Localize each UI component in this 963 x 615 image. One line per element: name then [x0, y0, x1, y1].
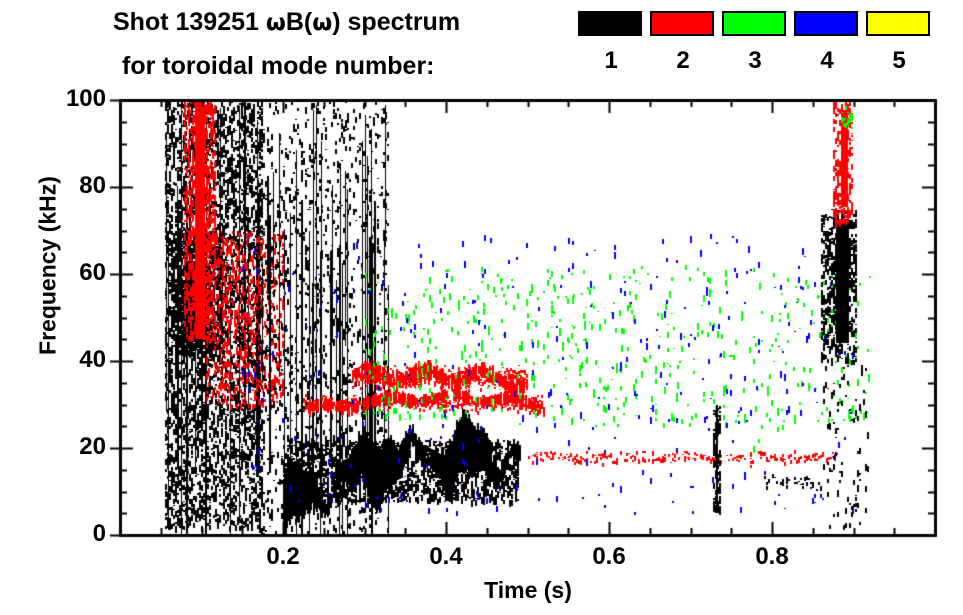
y-tick-label-100: 100 — [26, 85, 106, 113]
spectrogram-plot-area — [0, 0, 963, 615]
x-tick-label-0.2: 0.2 — [243, 543, 323, 571]
x-tick-label-0.8: 0.8 — [732, 543, 812, 571]
spectrogram-figure: Shot 139251 ωB(ω) spectrum for toroidal … — [0, 0, 963, 615]
x-tick-label-0.4: 0.4 — [406, 543, 486, 571]
y-tick-label-40: 40 — [26, 346, 106, 374]
y-tick-label-80: 80 — [26, 172, 106, 200]
x-axis-title: Time (s) — [120, 577, 936, 604]
y-tick-label-0: 0 — [26, 520, 106, 548]
y-tick-label-20: 20 — [26, 433, 106, 461]
y-tick-label-60: 60 — [26, 259, 106, 287]
x-tick-label-0.6: 0.6 — [569, 543, 649, 571]
